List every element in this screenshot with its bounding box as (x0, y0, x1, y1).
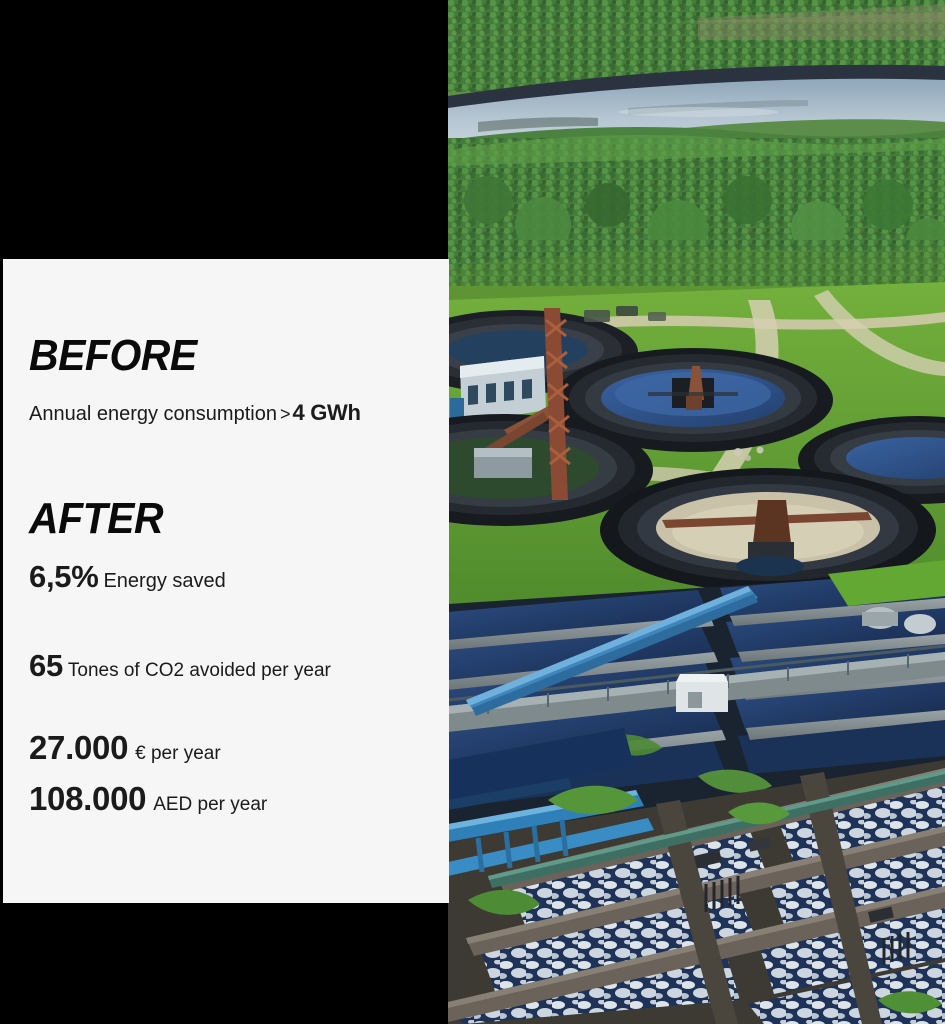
before-heading: BEFORE (29, 334, 197, 378)
treatment-plant-photo (448, 0, 945, 1024)
stat-energy-saved-label: Energy saved (98, 570, 225, 592)
page-root: BEFORE Annual energy consumption>4 GWh A… (0, 0, 945, 1024)
stat-savings-aed-label: AED per year (146, 794, 267, 815)
before-energy-line: Annual energy consumption>4 GWh (29, 402, 361, 424)
results-card: BEFORE Annual energy consumption>4 GWh A… (3, 259, 449, 903)
stat-co2-avoided-label: Tones of CO2 avoided per year (63, 660, 331, 681)
after-heading: AFTER (29, 497, 163, 541)
stat-savings-aed: 108.000AED per year (29, 782, 267, 815)
stat-savings-aed-value: 108.000 (29, 780, 146, 817)
stat-co2-avoided-value: 65 (29, 648, 63, 683)
greater-than-icon: > (277, 404, 293, 424)
stat-savings-eur-value: 27.000 (29, 729, 128, 766)
before-energy-label: Annual energy consumption (29, 403, 277, 425)
stat-energy-saved-value: 6,5% (29, 559, 98, 594)
before-energy-value: 4 GWh (292, 400, 360, 425)
photo-illustration (448, 0, 945, 1024)
stat-savings-eur-label: € per year (128, 743, 221, 764)
stat-co2-avoided: 65Tones of CO2 avoided per year (29, 650, 331, 681)
stat-energy-saved: 6,5%Energy saved (29, 561, 226, 592)
stat-savings-eur: 27.000€ per year (29, 731, 221, 764)
